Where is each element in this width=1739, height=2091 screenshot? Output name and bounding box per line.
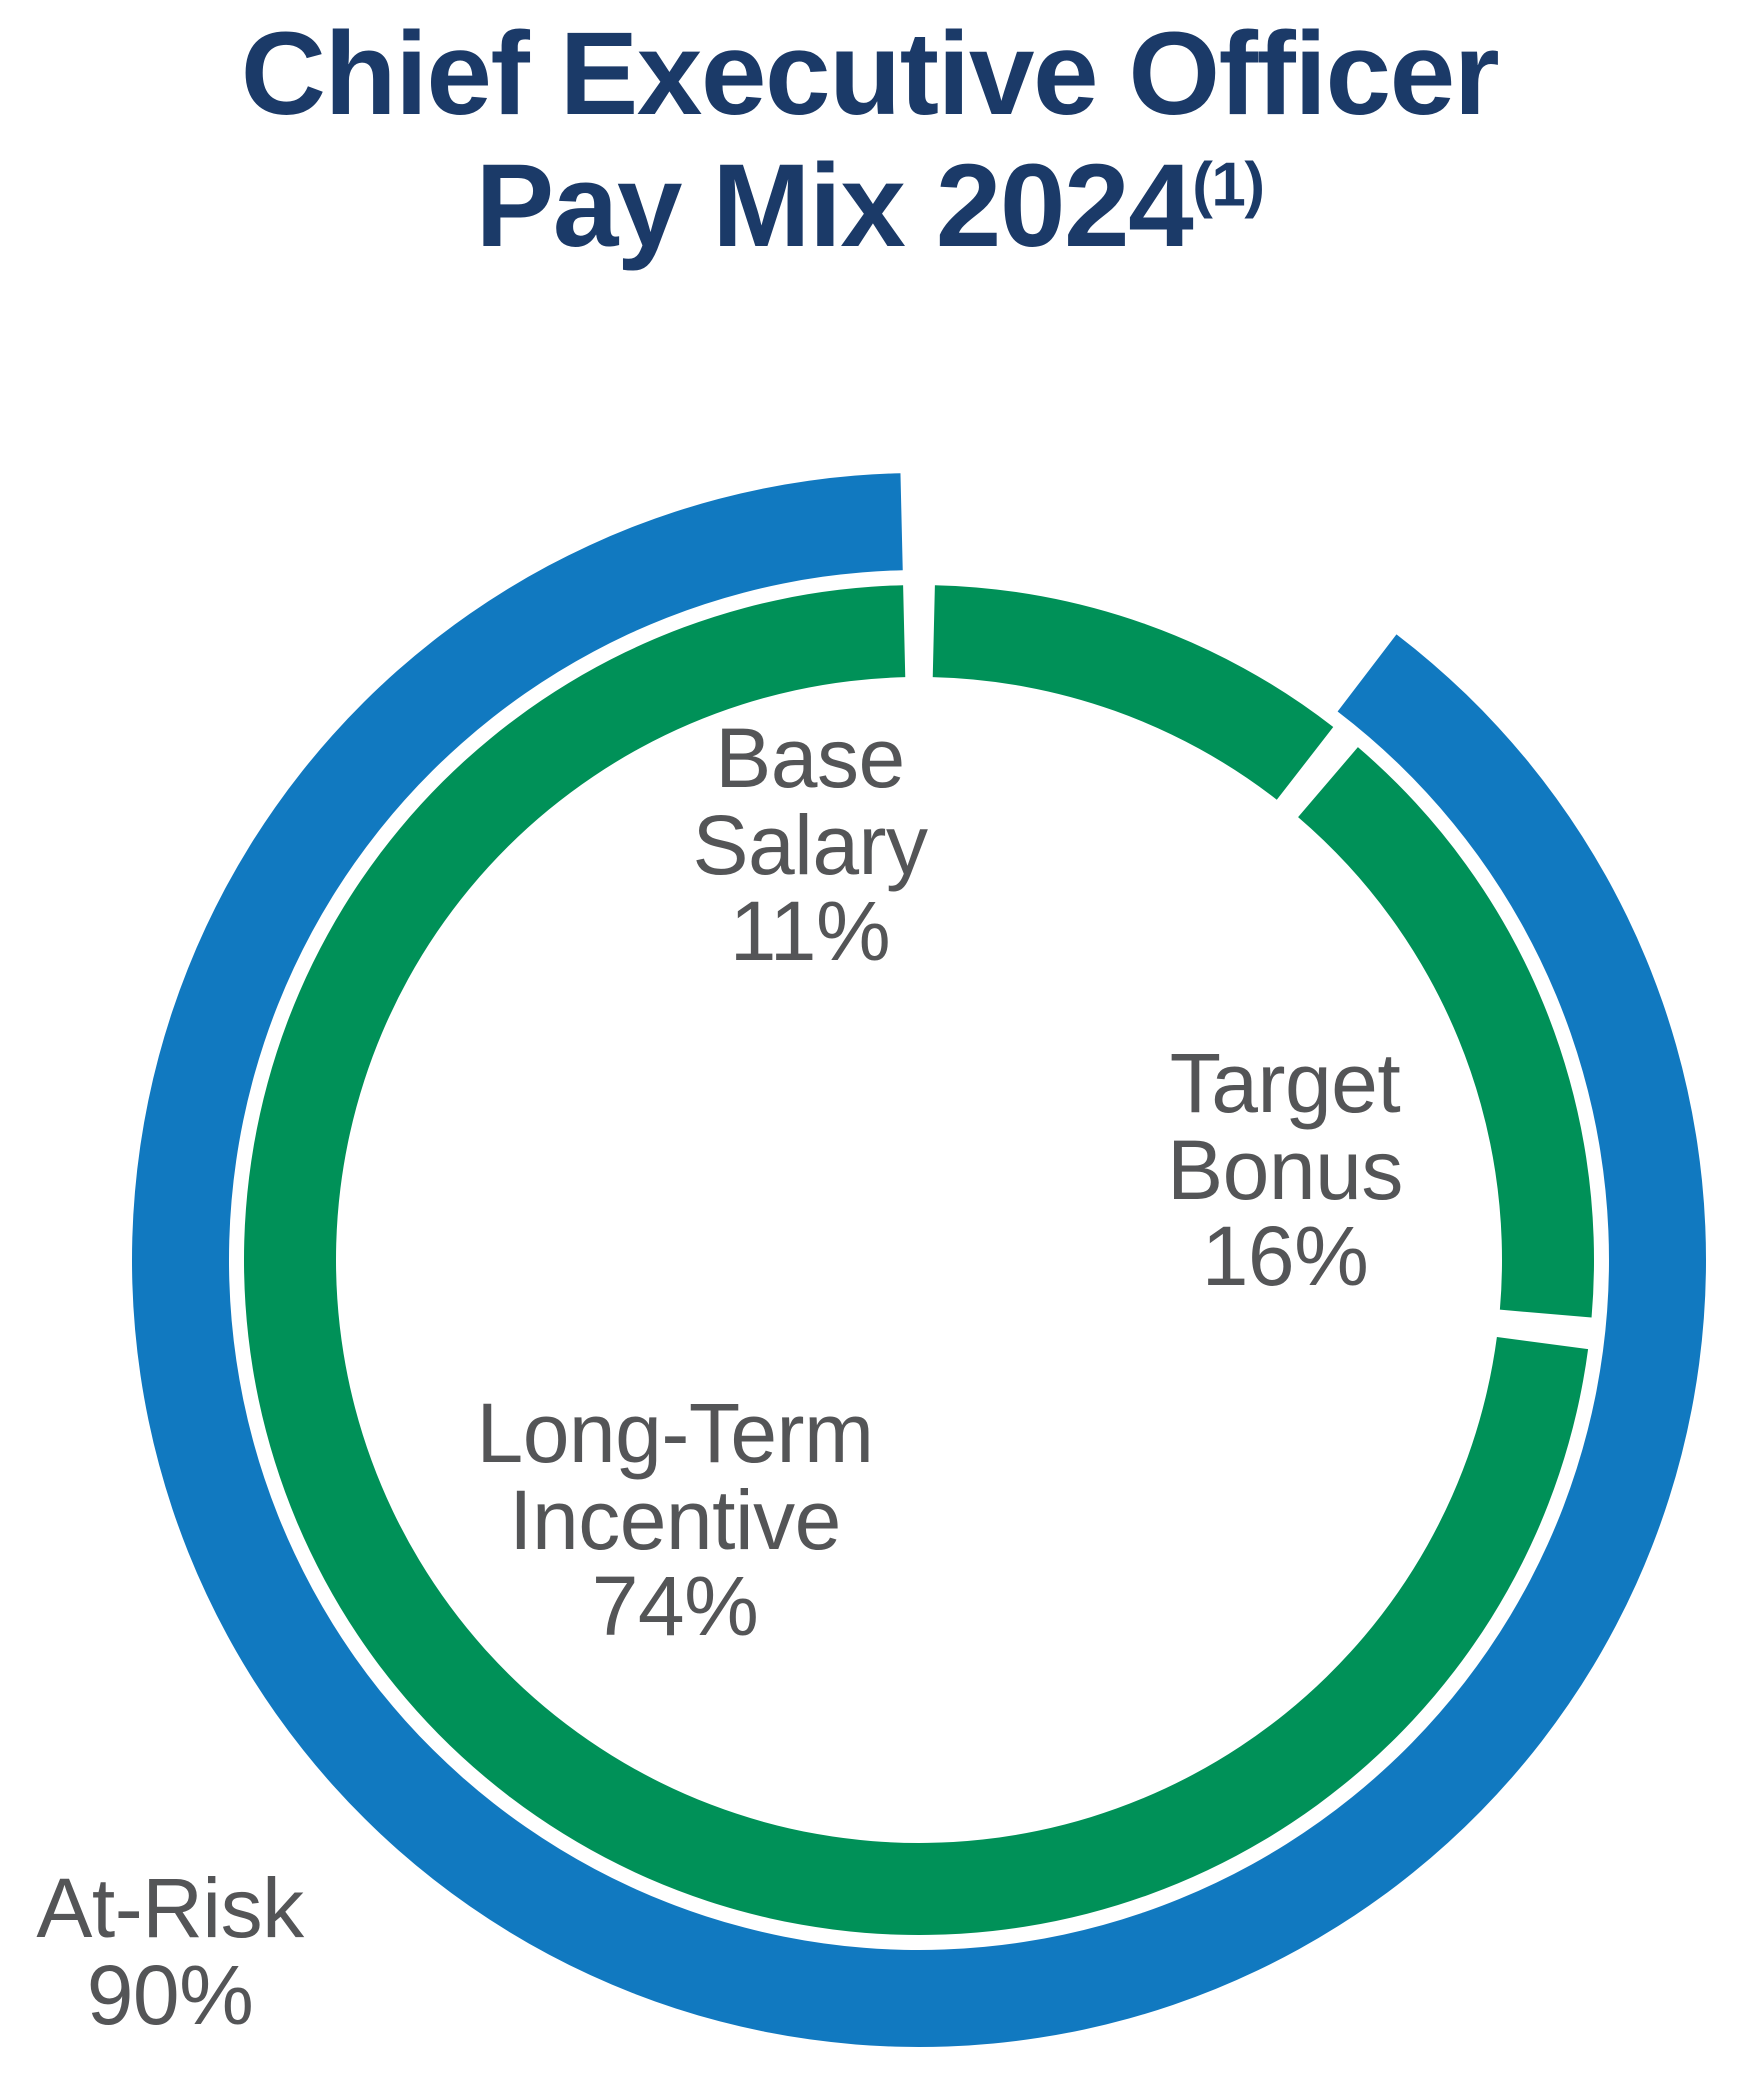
donut-chart-svg xyxy=(0,0,1739,2091)
label-at-risk: At-Risk 90% xyxy=(0,1865,360,2038)
donut-chart: Base Salary 11% Target Bonus 16% Long-Te… xyxy=(0,0,1739,2091)
label-target-bonus: Target Bonus 16% xyxy=(1105,1040,1465,1300)
label-base-salary: Base Salary 11% xyxy=(600,715,1020,975)
outer-ring-at-risk xyxy=(132,473,1706,2047)
label-long-term-incentive: Long-Term Incentive 74% xyxy=(355,1390,995,1650)
donut-slice-outer-at-risk xyxy=(132,473,1706,2047)
